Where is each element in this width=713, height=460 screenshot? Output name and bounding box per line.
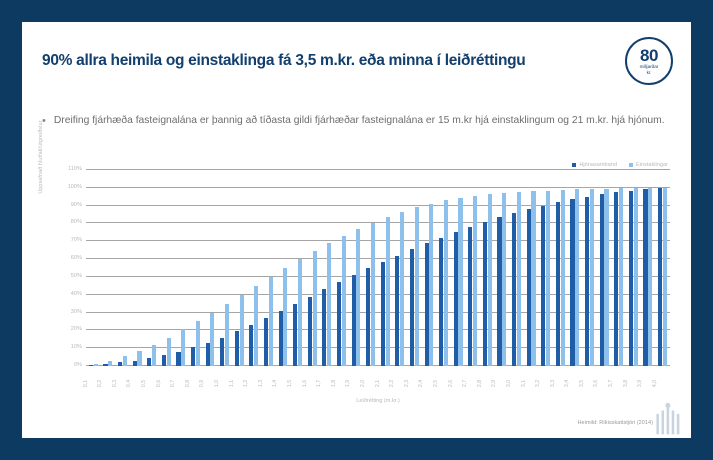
bar[interactable] (152, 345, 156, 366)
bar[interactable] (220, 338, 224, 367)
bar[interactable] (531, 191, 535, 366)
bar[interactable] (269, 277, 273, 366)
bar[interactable] (313, 251, 317, 366)
bar[interactable] (147, 358, 151, 366)
legend-item-hjonasamband[interactable]: Hjónasamband (572, 162, 617, 168)
legend-label: Einstaklingar (636, 162, 668, 168)
bar-group (553, 170, 568, 366)
bar[interactable] (444, 200, 448, 366)
chart-legend: Hjónasamband Einstaklingar (572, 162, 668, 168)
bar-group (144, 170, 159, 366)
y-axis-tick-label: 80% (71, 219, 82, 225)
bar[interactable] (293, 304, 297, 366)
bar[interactable] (561, 190, 565, 366)
bar[interactable] (488, 194, 492, 366)
bar[interactable] (137, 351, 141, 366)
bar[interactable] (327, 243, 331, 366)
bar-group (217, 170, 232, 366)
bar[interactable] (254, 286, 258, 366)
bar-group (641, 170, 656, 366)
bar-group (115, 170, 130, 366)
bar-group (597, 170, 612, 366)
bar[interactable] (604, 189, 608, 366)
bar-group (524, 170, 539, 366)
bar[interactable] (425, 243, 429, 366)
bar[interactable] (415, 207, 419, 366)
y-axis-tick-label: 100% (68, 184, 82, 190)
bar-group (422, 170, 437, 366)
bar-group (655, 170, 670, 366)
bar-group (86, 170, 101, 366)
bar-group (509, 170, 524, 366)
bar[interactable] (658, 188, 662, 366)
chart: Uppsafnað hlutfall/útgreiðslur Hjónasamb… (36, 162, 676, 412)
x-axis-ticks: 0,10,20,30,40,50,60,70,80,91,01,11,21,31… (86, 368, 670, 394)
bar[interactable] (103, 364, 107, 366)
bar[interactable] (570, 199, 574, 366)
bar[interactable] (337, 282, 341, 366)
amount-badge: 80 milljarðar kr. (625, 37, 673, 85)
bar[interactable] (629, 191, 633, 367)
y-axis-tick-label: 0% (74, 362, 82, 368)
bar[interactable] (210, 313, 214, 366)
bar[interactable] (298, 259, 302, 366)
bar-group (247, 170, 262, 366)
y-axis-tick-label: 110% (68, 166, 82, 172)
y-axis-tick-label: 70% (71, 237, 82, 243)
bar[interactable] (590, 189, 594, 366)
y-axis-tick-label: 90% (71, 202, 82, 208)
x-axis-title: Leiðrétting (m.kr.) (86, 398, 670, 404)
x-axis-tick: 4,0 (655, 368, 670, 394)
bar-group (568, 170, 583, 366)
bar-group (538, 170, 553, 366)
bar[interactable] (235, 331, 239, 366)
badge-unit-line2: kr. (647, 71, 652, 76)
bar[interactable] (386, 217, 390, 366)
bar[interactable] (264, 318, 268, 366)
badge-number: 80 (640, 47, 658, 64)
bar[interactable] (94, 364, 98, 366)
bar[interactable] (517, 192, 521, 366)
bar[interactable] (181, 329, 185, 366)
bar-group (320, 170, 335, 366)
bar-group (203, 170, 218, 366)
bar[interactable] (162, 355, 166, 366)
bar-group (378, 170, 393, 366)
bar-group (436, 170, 451, 366)
bar[interactable] (400, 212, 404, 366)
bar-group (305, 170, 320, 366)
bar[interactable] (585, 197, 589, 366)
bar[interactable] (322, 289, 326, 366)
bar[interactable] (118, 362, 122, 366)
bar[interactable] (249, 325, 253, 366)
bar[interactable] (556, 202, 560, 366)
x-axis-tick-label: 4,0 (652, 380, 673, 387)
legend-swatch-icon (629, 163, 633, 167)
bar[interactable] (527, 209, 531, 366)
bar[interactable] (395, 256, 399, 366)
bar-group (276, 170, 291, 366)
y-axis-tick-label: 40% (71, 291, 82, 297)
bar[interactable] (634, 188, 638, 366)
bar-group (101, 170, 116, 366)
bar[interactable] (439, 238, 443, 366)
legend-label: Hjónasamband (579, 162, 617, 168)
y-axis-title: Uppsafnað hlutfall/útgreiðslur (38, 102, 44, 212)
bar[interactable] (497, 217, 501, 366)
bar[interactable] (89, 365, 93, 366)
bar[interactable] (614, 192, 618, 366)
bar[interactable] (381, 262, 385, 366)
bar[interactable] (546, 191, 550, 367)
bar-group (159, 170, 174, 366)
y-axis-tick-label: 20% (71, 326, 82, 332)
bar-group (188, 170, 203, 366)
bar[interactable] (619, 188, 623, 366)
bar-group (480, 170, 495, 366)
bar[interactable] (575, 189, 579, 366)
bullet-item: • Dreifing fjárhæða fasteignalána er þan… (42, 114, 672, 129)
bar-group (582, 170, 597, 366)
slide-frame: 90% allra heimila og einstaklinga fá 3,5… (0, 0, 713, 460)
bar[interactable] (454, 232, 458, 366)
bar[interactable] (643, 189, 647, 366)
legend-swatch-icon (572, 163, 576, 167)
bar-group (611, 170, 626, 366)
bar[interactable] (429, 204, 433, 366)
bar[interactable] (196, 321, 200, 366)
bar-group (495, 170, 510, 366)
bar[interactable] (123, 356, 127, 366)
bar[interactable] (458, 198, 462, 366)
y-axis-tick-label: 10% (71, 344, 82, 350)
bar[interactable] (663, 188, 667, 366)
bar[interactable] (167, 338, 171, 367)
y-axis-tick-label: 60% (71, 255, 82, 261)
bar-group (626, 170, 641, 366)
bar[interactable] (502, 193, 506, 366)
bar-group (261, 170, 276, 366)
bar-group (363, 170, 378, 366)
bar[interactable] (468, 227, 472, 366)
bar-group (465, 170, 480, 366)
organization-logo (653, 402, 687, 436)
bar[interactable] (410, 249, 414, 366)
bar[interactable] (356, 229, 360, 366)
slide-canvas: 90% allra heimila og einstaklinga fá 3,5… (22, 22, 691, 438)
source-note: Heimild: Ríkisskattstjóri (2014) (577, 420, 653, 426)
bar[interactable] (352, 275, 356, 366)
plot-area: 110%100%90%80%70%60%50%40%30%20%10%0% (86, 170, 670, 366)
bar-group (407, 170, 422, 366)
bar[interactable] (133, 361, 137, 366)
bar-group (174, 170, 189, 366)
bar[interactable] (191, 347, 195, 366)
y-axis-tick-label: 30% (71, 309, 82, 315)
bar[interactable] (308, 297, 312, 366)
bar[interactable] (600, 194, 604, 366)
bar[interactable] (240, 295, 244, 366)
bar-group (334, 170, 349, 366)
bar[interactable] (512, 213, 516, 366)
bar[interactable] (342, 236, 346, 366)
bar[interactable] (366, 268, 370, 366)
bar-group (232, 170, 247, 366)
bar-groups (86, 170, 670, 366)
bar[interactable] (371, 223, 375, 366)
bar-group (349, 170, 364, 366)
bar[interactable] (483, 222, 487, 366)
legend-item-einstaklingar[interactable]: Einstaklingar (629, 162, 668, 168)
bar[interactable] (206, 343, 210, 366)
bar[interactable] (108, 361, 112, 366)
bar[interactable] (473, 196, 477, 366)
bar[interactable] (176, 352, 180, 366)
page-title: 90% allra heimila og einstaklinga fá 3,5… (42, 52, 602, 71)
bar[interactable] (283, 268, 287, 366)
bar-group (290, 170, 305, 366)
bullet-text: Dreifing fjárhæða fasteignalána er þanni… (54, 114, 665, 129)
bar-group (451, 170, 466, 366)
bar[interactable] (225, 304, 229, 366)
bar[interactable] (541, 206, 545, 366)
bar-group (392, 170, 407, 366)
bar-group (130, 170, 145, 366)
y-axis-tick-label: 50% (71, 273, 82, 279)
bar[interactable] (279, 311, 283, 366)
bar[interactable] (648, 188, 652, 366)
